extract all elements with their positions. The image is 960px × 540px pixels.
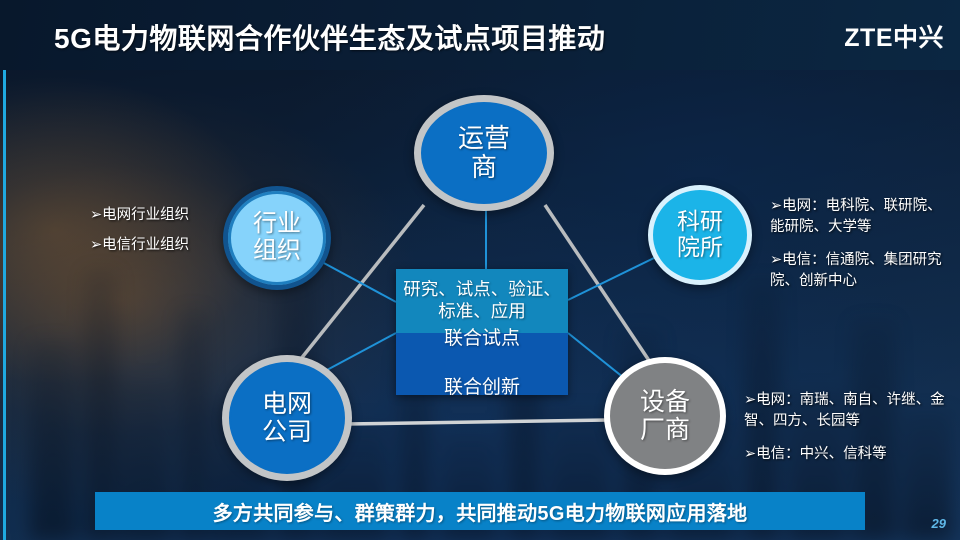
- spoke-center-research: [568, 258, 654, 300]
- summary-banner: 多方共同参与、群策群力，共同推动5G电力物联网应用落地: [95, 492, 865, 530]
- annotation-industry-org-line2: ➢电信行业组织: [90, 235, 220, 256]
- center-box-top: 研究、试点、验证、标准、应用: [396, 269, 568, 333]
- annotation-equipment-vendor: ➢电网：南瑞、南自、许继、金智、四方、长园等 ➢电信：中兴、信科等: [744, 390, 952, 465]
- node-research-institute[interactable]: 科研院所: [648, 185, 752, 285]
- annotation-research-institute-item1: ➢电网：电科院、联研院、能研院、大学等: [770, 196, 952, 238]
- center-box-bottom-text: 联合试点 联合创新: [444, 327, 520, 401]
- center-box-bottom-line1: 联合试点: [444, 327, 520, 352]
- node-operator[interactable]: 运营商: [414, 95, 554, 211]
- summary-banner-text: 多方共同参与、群策群力，共同推动5G电力物联网应用落地: [213, 497, 748, 526]
- node-grid-company[interactable]: 电网公司: [222, 355, 352, 481]
- node-industry-org[interactable]: 行业组织: [223, 186, 331, 290]
- center-box-bottom-line2: 联合创新: [444, 376, 520, 401]
- center-box-top-text: 研究、试点、验证、标准、应用: [396, 279, 568, 323]
- annotation-industry-org: ➢电网行业组织 ➢电信行业组织: [90, 205, 220, 256]
- node-equipment-vendor[interactable]: 设备厂商: [604, 357, 726, 475]
- page-number: 29: [932, 516, 946, 531]
- node-operator-label: 运营商: [447, 124, 521, 182]
- center-box-bottom: 联合试点 联合创新: [396, 333, 568, 395]
- node-industry-org-label: 行业组织: [243, 211, 311, 265]
- annotation-research-institute: ➢电网：电科院、联研院、能研院、大学等 ➢电信：信通院、集团研究院、创新中心: [770, 196, 952, 292]
- spoke-center-industry: [322, 262, 396, 302]
- annotation-equipment-vendor-item1: ➢电网：南瑞、南自、许继、金智、四方、长园等: [744, 390, 952, 432]
- line-grid-to-vendor: [346, 420, 608, 424]
- center-box: 研究、试点、验证、标准、应用 联合试点 联合创新: [396, 269, 568, 395]
- annotation-industry-org-line1: ➢电网行业组织: [90, 205, 220, 226]
- node-equipment-vendor-label: 设备厂商: [630, 388, 700, 444]
- annotation-research-institute-item2: ➢电信：信通院、集团研究院、创新中心: [770, 250, 952, 292]
- annotation-equipment-vendor-item2: ➢电信：中兴、信科等: [744, 444, 952, 465]
- node-research-institute-label: 科研院所: [667, 209, 733, 261]
- slide-canvas: 5G电力物联网合作伙伴生态及试点项目推动 ZTE中兴 运营商 行业组织 科研院所…: [0, 0, 960, 540]
- node-grid-company-label: 电网公司: [252, 390, 322, 446]
